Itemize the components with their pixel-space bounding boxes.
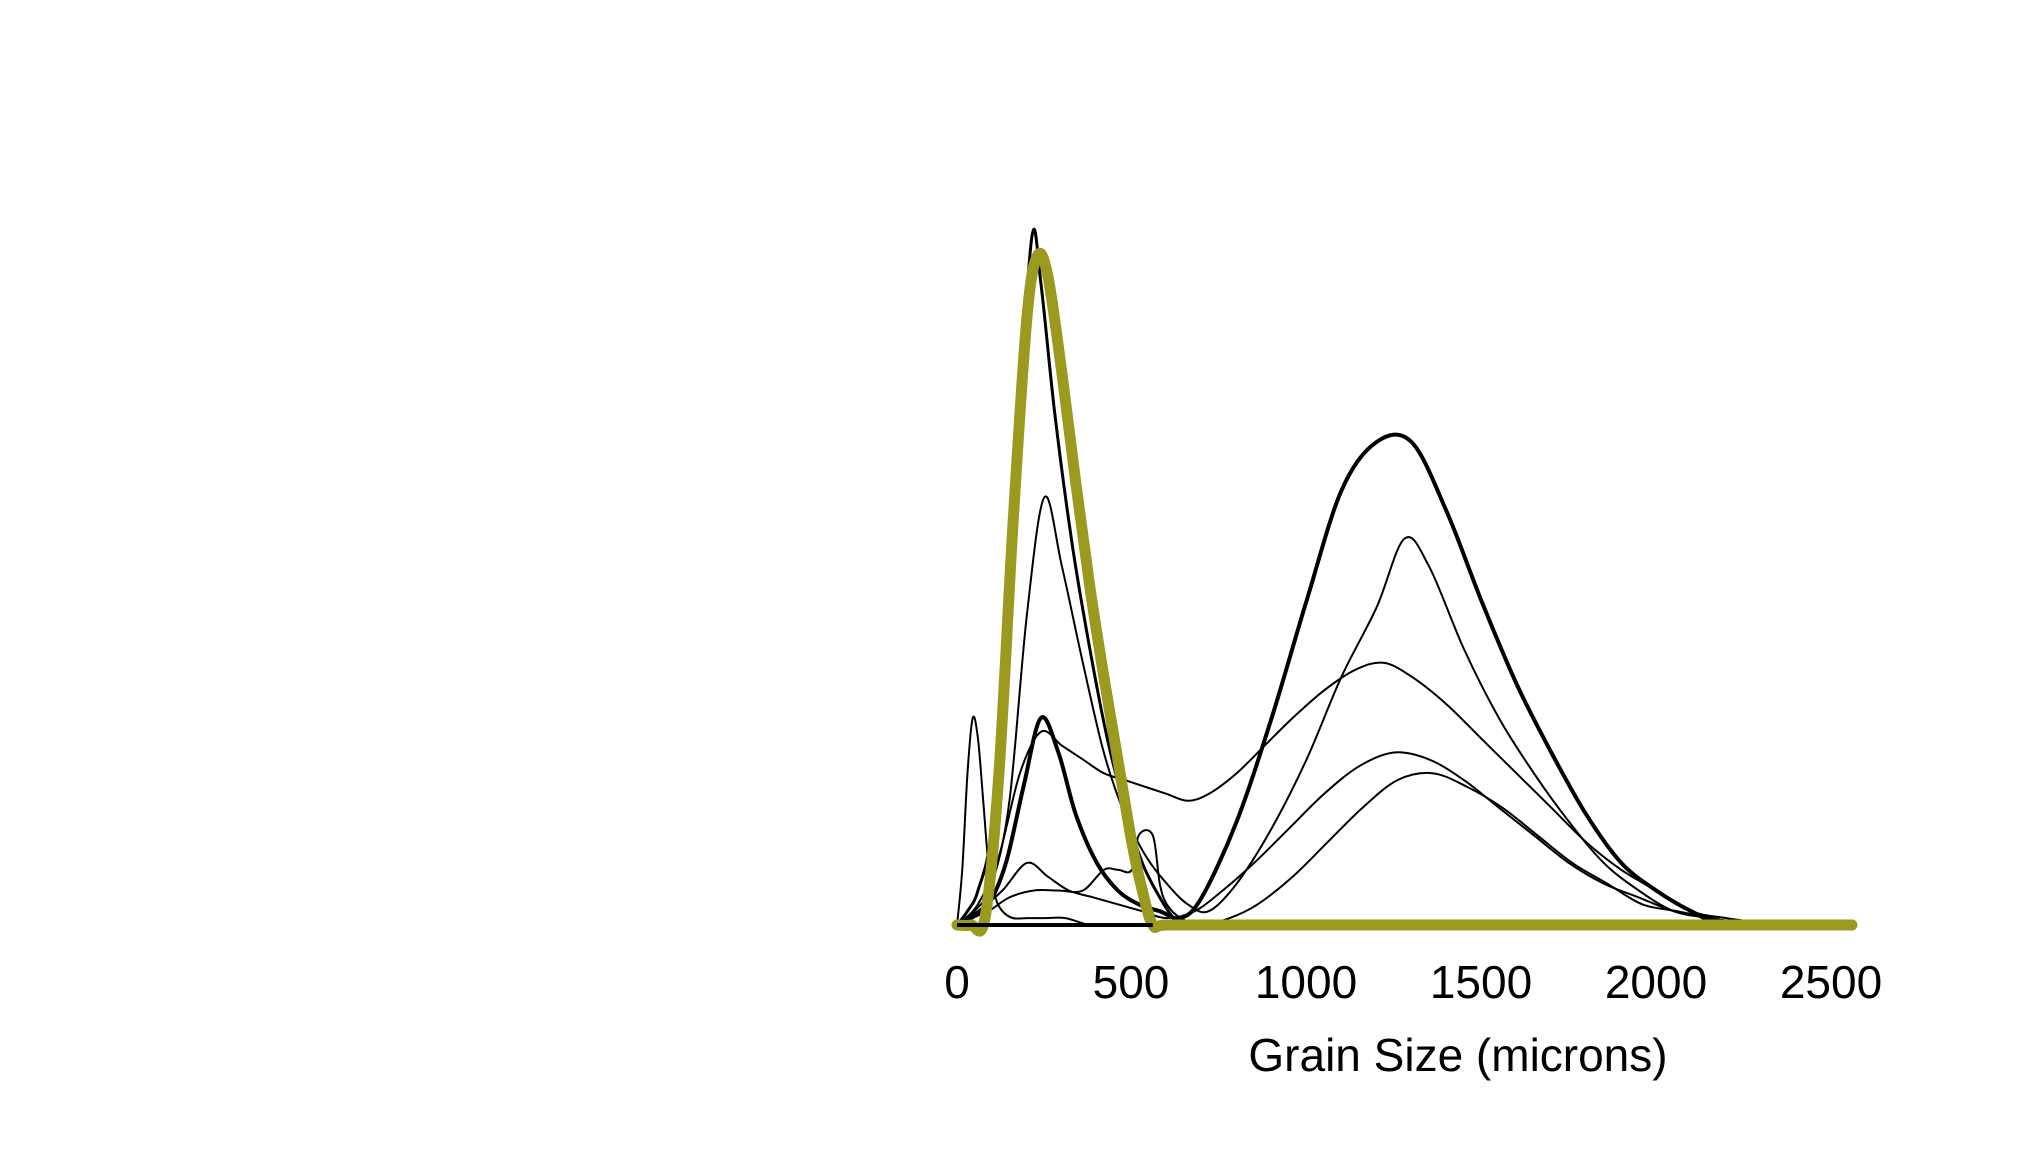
x-tick-label-2500: 2500 xyxy=(1780,959,1882,1005)
x-tick-label-1500: 1500 xyxy=(1430,959,1532,1005)
chart-series-curve-tall-fine-mode xyxy=(957,229,1796,925)
chart-series-curve-bimodal-strong-coarse xyxy=(957,435,1831,926)
x-axis-title: Grain Size (microns) xyxy=(1248,1028,1667,1082)
chart-series-curve-broad-bimodal-low xyxy=(957,663,1779,925)
x-tick-label-500: 500 xyxy=(1093,959,1170,1005)
grain-size-distribution-figure: 0 500 1000 1500 2000 2500 Grain Size (mi… xyxy=(0,0,2023,1158)
x-tick-label-2000: 2000 xyxy=(1605,959,1707,1005)
chart-canvas xyxy=(0,0,2023,1158)
x-tick-label-0: 0 xyxy=(944,959,970,1005)
chart-series-curve-stepped-tail xyxy=(957,773,1754,925)
curves-layer xyxy=(957,229,1852,931)
x-tick-label-1000: 1000 xyxy=(1255,959,1357,1005)
chart-series-highlighted-unimodal-fine xyxy=(957,253,1852,931)
